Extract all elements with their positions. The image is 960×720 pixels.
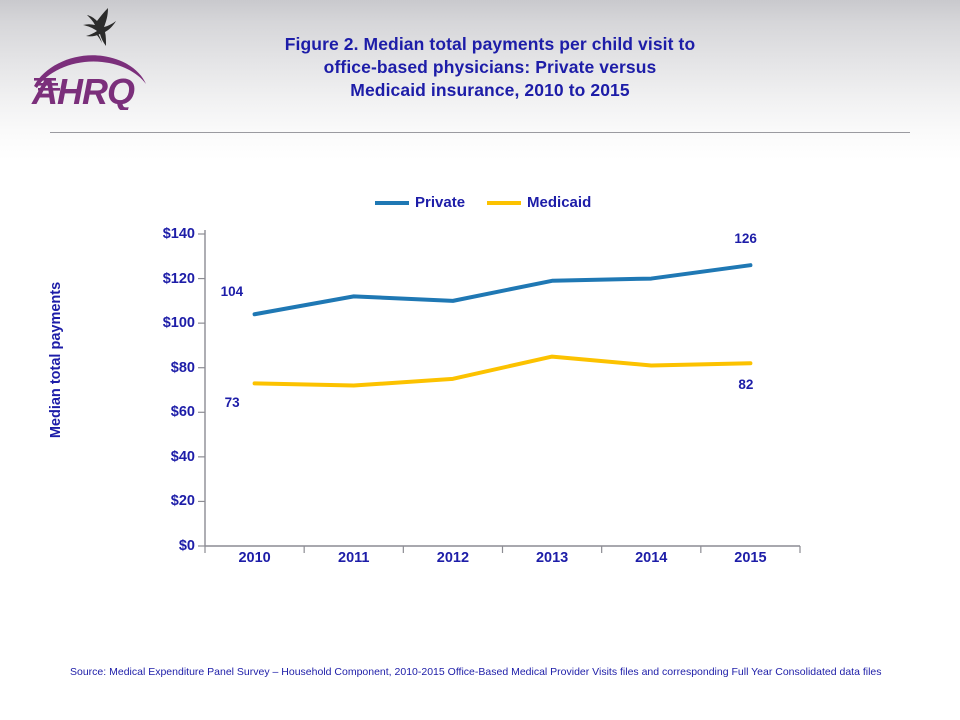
data-series (255, 265, 751, 385)
hhs-eagle-icon (76, 6, 128, 48)
ahrq-logo: AHRQ (28, 6, 158, 110)
header-divider (50, 132, 910, 133)
data-value-label: 73 (225, 395, 240, 410)
x-tick-label: 2013 (507, 550, 597, 566)
x-tick-label: 2014 (606, 550, 696, 566)
plot-canvas (0, 160, 960, 590)
ahrq-wordmark-icon: AHRQ (28, 44, 158, 110)
title-line-2: office-based physicians: Private versus (190, 56, 790, 79)
x-tick-label: 2012 (408, 550, 498, 566)
data-value-label: 126 (734, 231, 757, 246)
axes (198, 230, 800, 553)
figure-page: AHRQ Figure 2. Median total payments per… (0, 0, 960, 720)
source-note: Source: Medical Expenditure Panel Survey… (70, 665, 900, 680)
page-title: Figure 2. Median total payments per chil… (190, 33, 790, 102)
line-chart: Private Medicaid Median total payments $… (0, 160, 960, 590)
title-line-1: Figure 2. Median total payments per chil… (190, 33, 790, 56)
x-tick-label: 2015 (705, 550, 795, 566)
data-value-label: 104 (221, 284, 244, 299)
title-line-3: Medicaid insurance, 2010 to 2015 (190, 79, 790, 102)
data-value-label: 82 (738, 377, 753, 392)
series-line-medicaid (255, 357, 751, 386)
series-line-private (255, 265, 751, 314)
x-tick-label: 2011 (309, 550, 399, 566)
x-tick-label: 2010 (210, 550, 300, 566)
